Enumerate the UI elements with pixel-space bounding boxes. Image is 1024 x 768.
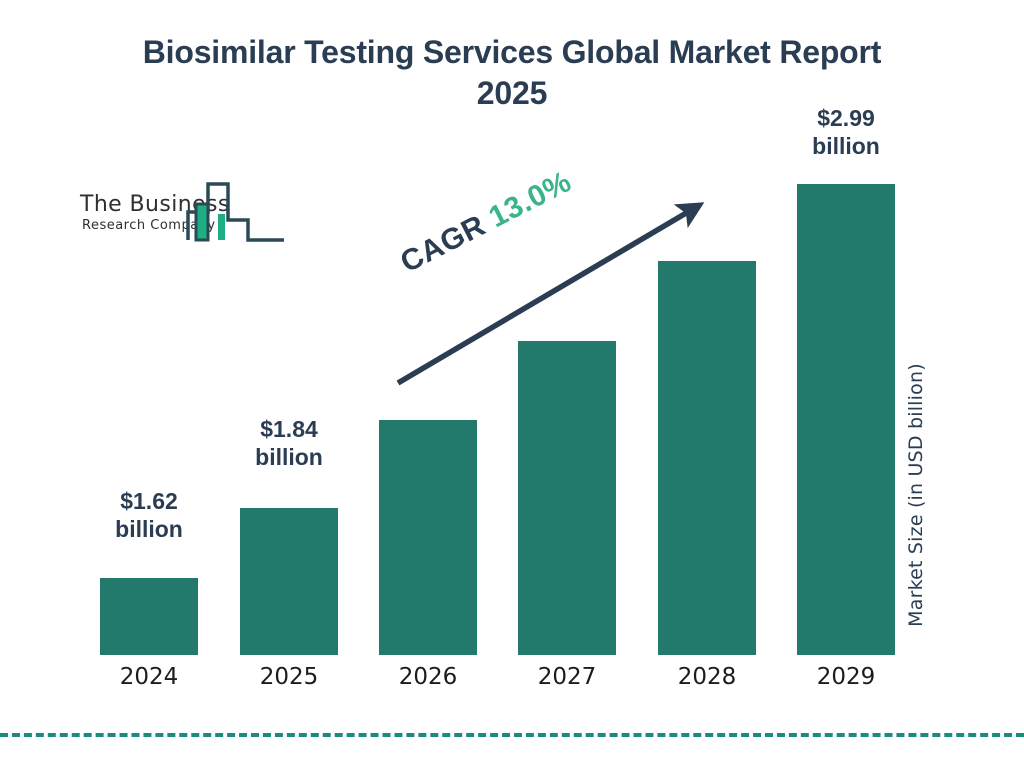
bar-2025 <box>240 508 338 655</box>
bar-chart-logo-mark-icon <box>186 178 286 250</box>
bar-2024 <box>100 578 198 655</box>
x-tick-2026: 2026 <box>378 664 478 690</box>
x-tick-2027: 2027 <box>517 664 617 690</box>
page-title: Biosimilar Testing Services Global Marke… <box>112 32 912 114</box>
company-logo: The Business Research Company <box>78 180 288 252</box>
x-tick-2029: 2029 <box>796 664 896 690</box>
x-tick-2025: 2025 <box>239 664 339 690</box>
y-axis-title: Market Size (in USD billion) <box>905 330 939 660</box>
chart-canvas: Biosimilar Testing Services Global Marke… <box>0 0 1024 768</box>
bar-value-2024: $1.62 billion <box>79 487 219 543</box>
cagr-trend-arrow-icon <box>380 190 720 400</box>
bar-2029 <box>797 184 895 655</box>
bar-value-2025: $1.84 billion <box>219 415 359 471</box>
bar-value-2029: $2.99 billion <box>776 104 916 160</box>
x-tick-2028: 2028 <box>657 664 757 690</box>
x-tick-2024: 2024 <box>99 664 199 690</box>
bar-2026 <box>379 420 477 655</box>
footer-divider <box>0 733 1024 737</box>
